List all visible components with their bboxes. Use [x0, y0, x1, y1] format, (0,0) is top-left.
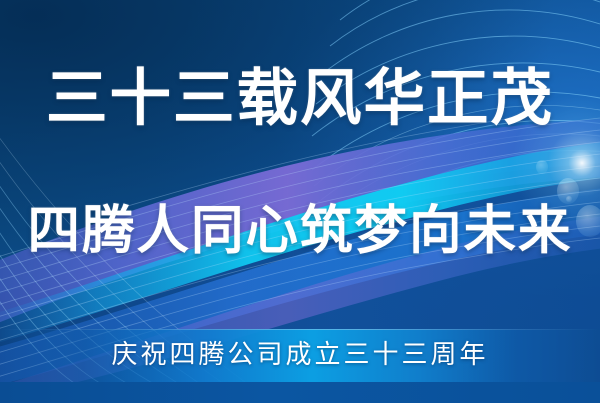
- bokeh-circle-3: [536, 160, 548, 174]
- subtitle-text: 庆祝四腾公司成立三十三周年: [111, 340, 488, 369]
- headline-line-2: 四腾人同心筑梦向未来: [27, 201, 572, 260]
- headline-line-2-container: 四腾人同心筑梦向未来: [0, 192, 600, 270]
- subtitle-container: 庆祝四腾公司成立三十三周年: [0, 332, 600, 378]
- bottom-strip: [0, 382, 600, 403]
- headline-line-1-container: 三十三载风华正茂: [0, 60, 600, 138]
- headline-line-1: 三十三载风华正茂: [46, 64, 554, 133]
- subtitle-band-bottom-edge: [0, 382, 600, 383]
- subtitle-band-top-edge: [0, 329, 600, 330]
- anniversary-poster: 三十三载风华正茂 四腾人同心筑梦向未来 庆祝四腾公司成立三十三周年: [0, 0, 600, 403]
